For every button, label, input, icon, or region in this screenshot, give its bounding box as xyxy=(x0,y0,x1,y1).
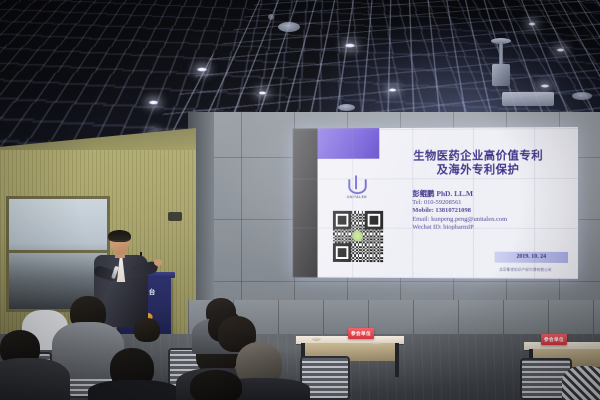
audience-head xyxy=(134,318,160,342)
projector xyxy=(488,36,514,88)
table-leg xyxy=(395,343,399,377)
speaker-glasses xyxy=(111,240,128,246)
ac-vent-unit xyxy=(502,92,554,106)
ceiling-vent xyxy=(338,104,355,111)
ceiling-vent xyxy=(268,14,274,20)
table-name-card: 参会单位 xyxy=(348,328,374,339)
audience-head xyxy=(190,370,242,400)
downlight xyxy=(556,48,565,52)
ceiling-vent xyxy=(572,92,592,100)
water-cup xyxy=(312,337,321,341)
ceiling-vent xyxy=(278,22,300,32)
downlight xyxy=(344,43,356,48)
audience-shoulders xyxy=(0,358,70,400)
downlight xyxy=(196,67,208,72)
projector-body xyxy=(492,64,510,86)
downlight xyxy=(388,88,397,92)
downlight xyxy=(528,22,536,26)
table-name-card: 参会单位 xyxy=(541,334,567,345)
downlight xyxy=(148,100,159,105)
projection-screen: 生物医药企业高价值专利 及海外专利保护 UNITALEN 彭鲲鹏 PhD. LL… xyxy=(293,127,578,279)
screen-glare xyxy=(293,127,578,279)
audience-shoulders xyxy=(88,380,180,400)
downlight xyxy=(258,91,267,95)
water-cup xyxy=(372,341,381,345)
audience-shoulders xyxy=(562,366,600,400)
downlight xyxy=(540,84,550,88)
speaker-hand xyxy=(154,259,162,266)
wall-speaker xyxy=(168,212,182,221)
conference-photo: 生物医药企业高价值专利 及海外专利保护 UNITALEN 彭鲲鹏 PhD. LL… xyxy=(0,0,600,400)
